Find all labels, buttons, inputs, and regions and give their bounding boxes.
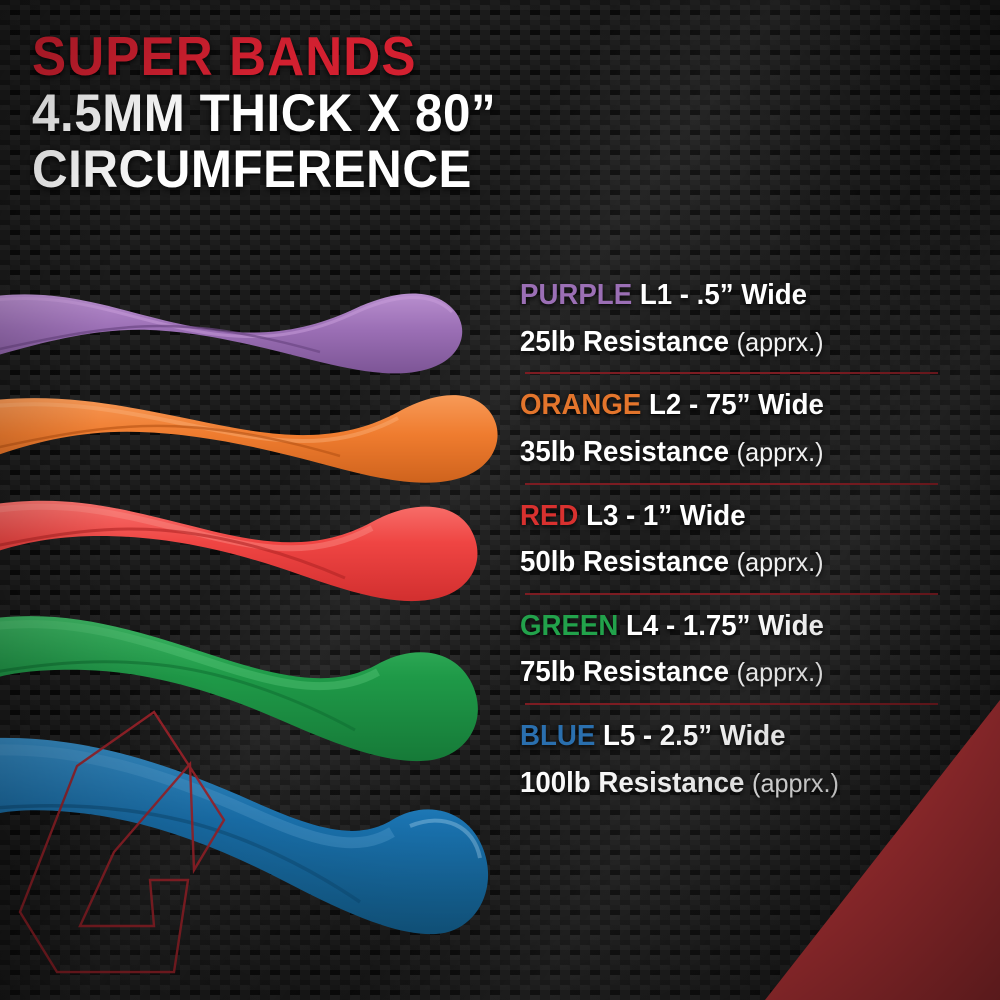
band-spec-list: PURPLE L1 - .5” Wide 25lb Resistance (ap… (520, 278, 960, 829)
spec-resistance-text: 35lb Resistance (520, 436, 729, 468)
spec-resistance-text: 75lb Resistance (520, 656, 729, 688)
spec-line-resistance: 35lb Resistance (apprx.) (520, 435, 947, 471)
spec-color-name: BLUE (520, 720, 595, 752)
spec-line-size: ORANGE L2 - 75” Wide (520, 388, 947, 424)
purple-band (0, 294, 462, 374)
spec-row-red: RED L3 - 1” Wide 50lb Resistance (apprx.… (520, 499, 960, 595)
page-subtitle-line-2: CIRCUMFERENCE (32, 142, 683, 198)
spec-color-name: PURPLE (520, 279, 632, 311)
page-title-brand: SUPER BANDS (32, 28, 683, 84)
spec-approx-note: (apprx.) (737, 547, 824, 577)
spec-approx-note: (apprx.) (737, 437, 824, 467)
spec-row-green: GREEN L4 - 1.75” Wide 75lb Resistance (a… (520, 609, 960, 705)
spec-size-text: L4 - 1.75” Wide (626, 610, 824, 642)
spec-line-size: RED L3 - 1” Wide (520, 499, 947, 535)
spec-size-text: L1 - .5” Wide (640, 279, 807, 311)
orange-band (0, 395, 498, 483)
blue-band (0, 738, 488, 934)
red-band (0, 501, 477, 601)
spec-line-size: BLUE L5 - 2.5” Wide (520, 719, 947, 755)
headline-block: SUPER BANDS 4.5MM THICK X 80” CIRCUMFERE… (32, 28, 732, 198)
spec-approx-note: (apprx.) (752, 768, 839, 798)
spec-line-resistance: 25lb Resistance (apprx.) (520, 325, 947, 361)
spec-row-orange: ORANGE L2 - 75” Wide 35lb Resistance (ap… (520, 388, 960, 484)
spec-size-text: L2 - 75” Wide (649, 389, 824, 421)
spec-resistance-text: 100lb Resistance (520, 767, 744, 799)
spec-line-resistance: 50lb Resistance (apprx.) (520, 545, 947, 581)
spec-row-purple: PURPLE L1 - .5” Wide 25lb Resistance (ap… (520, 278, 960, 374)
spec-approx-note: (apprx.) (737, 657, 824, 687)
spec-size-text: L5 - 2.5” Wide (603, 720, 786, 752)
spec-resistance-text: 25lb Resistance (520, 326, 729, 358)
spec-resistance-text: 50lb Resistance (520, 546, 729, 578)
spec-line-resistance: 100lb Resistance (apprx.) (520, 766, 947, 802)
spec-color-name: RED (520, 500, 578, 532)
spec-size-text: L3 - 1” Wide (586, 500, 746, 532)
page-subtitle-line-1: 4.5MM THICK X 80” (32, 86, 683, 142)
spec-line-size: GREEN L4 - 1.75” Wide (520, 609, 947, 645)
spec-approx-note: (apprx.) (737, 327, 824, 357)
spec-line-resistance: 75lb Resistance (apprx.) (520, 655, 947, 691)
green-band (0, 616, 478, 761)
spec-color-name: ORANGE (520, 389, 641, 421)
super-bands-infographic: SUPER BANDS 4.5MM THICK X 80” CIRCUMFERE… (0, 0, 1000, 1000)
spec-color-name: GREEN (520, 610, 618, 642)
spec-row-blue: BLUE L5 - 2.5” Wide 100lb Resistance (ap… (520, 719, 960, 815)
resistance-bands-illustration (0, 260, 540, 1000)
spec-line-size: PURPLE L1 - .5” Wide (520, 278, 947, 314)
